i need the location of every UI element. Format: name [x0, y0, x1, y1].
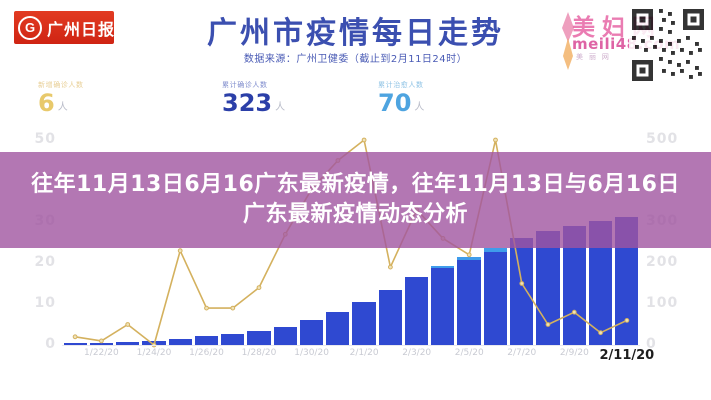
- stat-value: 6: [38, 92, 55, 115]
- x-tick-label: 2/3/20: [402, 348, 431, 358]
- stat-new-confirmed: 新增确诊人数 6 人: [38, 80, 84, 115]
- stat-value: 70: [378, 92, 411, 115]
- x-tick-label: 1/28/20: [242, 348, 277, 358]
- y-tick-right: 100: [646, 295, 678, 311]
- summary-stats: 新增确诊人数 6 人 累计确诊人数 323 人 累计治愈人数 70 人: [0, 80, 711, 130]
- x-tick-label: 2/11/20: [599, 348, 654, 363]
- x-tick-label: 1/22/20: [84, 348, 119, 358]
- stat-value: 323: [222, 92, 272, 115]
- x-tick-label: 2/9/20: [560, 348, 589, 358]
- line-marker: [572, 310, 576, 314]
- infographic-screenshot: G 广州日报 广州市疫情每日走势 数据来源：广州卫健委（截止到2月11日24时）…: [0, 0, 711, 400]
- infographic-card: G 广州日报 广州市疫情每日走势 数据来源：广州卫健委（截止到2月11日24时）…: [0, 0, 711, 400]
- line-marker: [494, 138, 498, 142]
- line-marker: [362, 138, 366, 142]
- line-marker: [231, 306, 235, 310]
- line-marker: [520, 282, 524, 286]
- line-marker: [625, 319, 629, 323]
- stat-total-confirmed: 累计确诊人数 323 人: [222, 80, 285, 115]
- x-tick-label: 1/24/20: [137, 348, 172, 358]
- line-marker: [73, 335, 77, 339]
- y-tick-right: 200: [646, 254, 678, 270]
- line-marker: [599, 331, 603, 335]
- stat-total-recovered: 累计治愈人数 70 人: [378, 80, 424, 115]
- x-axis: 1/22/201/24/201/26/201/28/201/30/202/1/2…: [62, 348, 640, 370]
- line-marker: [389, 265, 393, 269]
- x-tick-label: 1/30/20: [294, 348, 329, 358]
- y-tick-left: 10: [35, 295, 56, 311]
- overlay-headline: 往年11月13日6月16广东最新疫情，往年11月13日与6月16日广东最新疫情动…: [0, 152, 711, 248]
- stat-unit: 人: [275, 98, 285, 113]
- x-tick-label: 2/1/20: [350, 348, 379, 358]
- line-marker: [126, 323, 130, 327]
- y-tick-left: 0: [45, 336, 56, 352]
- stat-unit: 人: [414, 98, 424, 113]
- x-tick-label: 2/5/20: [455, 348, 484, 358]
- line-marker: [467, 253, 471, 257]
- watermark-tagline: 美 丽 网: [576, 52, 611, 62]
- line-marker: [257, 286, 261, 290]
- axis-baseline: [62, 345, 640, 346]
- line-marker: [178, 249, 182, 253]
- qr-code-icon: [629, 6, 707, 84]
- y-tick-left: 20: [35, 254, 56, 270]
- x-tick-label: 1/26/20: [189, 348, 224, 358]
- line-marker: [205, 306, 209, 310]
- line-marker: [100, 339, 104, 343]
- y-tick-right: 500: [646, 131, 678, 147]
- stat-unit: 人: [58, 98, 68, 113]
- line-marker: [546, 323, 550, 327]
- y-tick-left: 50: [35, 131, 56, 147]
- x-tick-label: 2/7/20: [507, 348, 536, 358]
